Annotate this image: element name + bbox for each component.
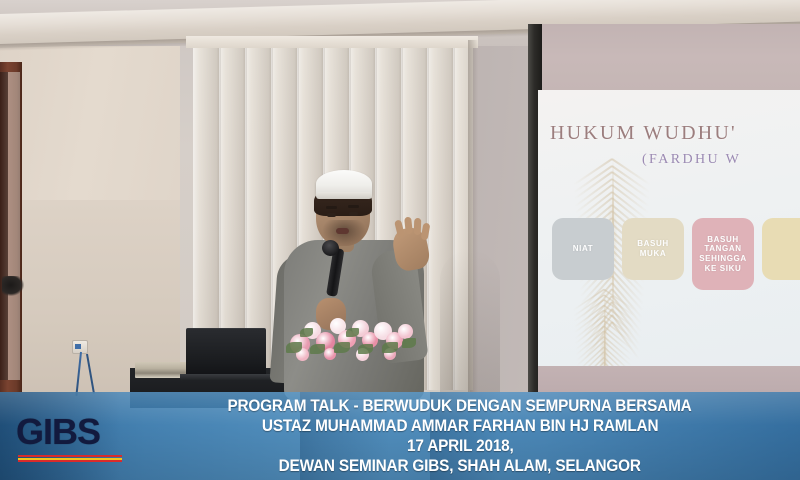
audience-silhouette (440, 250, 500, 400)
slide-step-box-2: BASUH MUKA (622, 218, 684, 280)
flower-leaf (300, 328, 313, 337)
speaker-kopiah-band (316, 192, 372, 199)
speaker-finger-2 (404, 217, 413, 235)
banner-line-1: PROGRAM TALK - BERWUDUK DENGAN SEMPURNA … (228, 397, 692, 416)
flower-bloom (398, 324, 413, 339)
flower-leaf (346, 328, 359, 337)
flower-leaf (382, 342, 398, 353)
presentation-slide: HUKUM WUDHU' (FARDHU W NIATBASUH MUKABAS… (538, 90, 800, 366)
flower-leaf (310, 344, 325, 354)
gibs-logo: GIBS (16, 414, 124, 466)
screen-bottom-band (538, 366, 800, 392)
black-laptop-base (180, 374, 274, 381)
speaker-eye-left (327, 213, 336, 217)
speaker-finger-3 (414, 218, 422, 235)
power-socket-switch (75, 344, 81, 349)
flower-leaf (286, 342, 302, 353)
black-laptop (186, 328, 266, 376)
event-photo-scene: HUKUM WUDHU' (FARDHU W NIATBASUH MUKABAS… (0, 0, 800, 480)
slide-step-box-3: BASUH TANGAN SEHINGGA KE SIKU (692, 218, 754, 290)
floral-arrangement (286, 308, 418, 370)
door-frame-inner (0, 72, 8, 380)
slide-subtitle: (FARDHU W (642, 152, 800, 168)
banner-text-block: PROGRAM TALK - BERWUDUK DENGAN SEMPURNA … (120, 392, 800, 480)
blinds-headrail (186, 36, 478, 48)
flower-leaf (402, 338, 416, 348)
gibs-logo-bars (18, 455, 122, 462)
banner-line-4: DEWAN SEMINAR GIBS, SHAH ALAM, SELANGOR (279, 457, 641, 476)
wall-fixture (2, 276, 24, 296)
logo-bar-3 (18, 460, 122, 462)
speaker-brow-left (326, 206, 337, 209)
gibs-logo-text: GIBS (16, 414, 124, 450)
door-panel (8, 72, 20, 380)
speaker-eye-right (349, 212, 358, 216)
slide-step-box-1: NIAT (552, 218, 614, 280)
flower-leaf (358, 344, 373, 354)
projection-screen: HUKUM WUDHU' (FARDHU W NIATBASUH MUKABAS… (528, 24, 800, 392)
flower-leaf (334, 342, 350, 353)
screen-casing (538, 24, 800, 90)
slide-title: HUKUM WUDHU' (550, 122, 800, 145)
banner-line-2: USTAZ MUHAMMAD AMMAR FARHAN BIN HJ RAMLA… (262, 417, 658, 436)
speaker-mouth (336, 228, 349, 234)
speaker-finger-4 (421, 223, 431, 241)
slide-step-box-4 (762, 218, 800, 280)
speaker-brow-right (348, 205, 359, 208)
banner-line-3: 17 APRIL 2018, (407, 437, 514, 456)
slide-step-boxes: NIATBASUH MUKABASUH TANGAN SEHINGGA KE S… (552, 218, 800, 298)
